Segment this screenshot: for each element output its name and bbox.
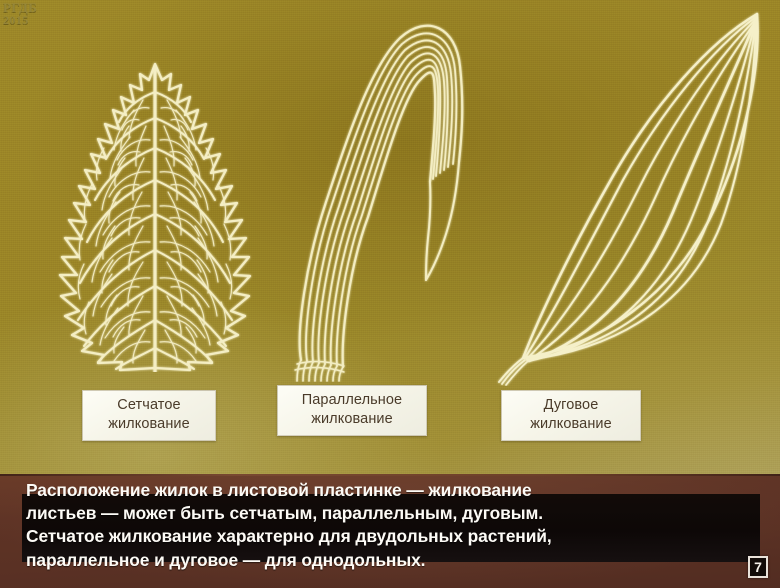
library-watermark: РГДБ 2015 [3,1,37,26]
slide-image-area: РГДБ 2015 [0,0,780,474]
watermark-line-1: РГДБ [3,1,37,14]
caption-parallel-venation: Параллельное жилкование [277,385,427,436]
caption-netted-line-1: Сетчатое [91,396,207,415]
slide-caption-band: Расположение жилок в листовой пластинке … [0,474,780,588]
caption-parallel-line-1: Параллельное [286,391,418,410]
band-line-2: листьев — может быть сетчатым, параллель… [26,502,758,525]
netted-venation-leaf-icon [40,52,270,372]
page-number-badge: 7 [748,556,768,578]
filmstrip-slide: РГДБ 2015 [0,0,780,588]
caption-netted-line-2: жилкование [91,415,207,434]
caption-arcuate-line-1: Дуговое [510,396,632,415]
caption-netted-venation: Сетчатое жилкование [82,390,216,441]
caption-parallel-line-2: жилкование [286,410,418,429]
band-line-3: Сетчатое жилкование характерно для двудо… [26,525,758,548]
watermark-line-2: 2015 [3,14,37,26]
band-line-4: параллельное и дуговое — для однодольных… [26,549,758,572]
caption-arcuate-venation: Дуговое жилкование [501,390,641,441]
band-caption-text: Расположение жилок в листовой пластинке … [0,474,780,588]
arcuate-venation-leaf-icon [495,8,775,386]
caption-arcuate-line-2: жилкование [510,415,632,434]
parallel-venation-leaf-icon [278,12,478,382]
band-line-1: Расположение жилок в листовой пластинке … [26,479,758,502]
